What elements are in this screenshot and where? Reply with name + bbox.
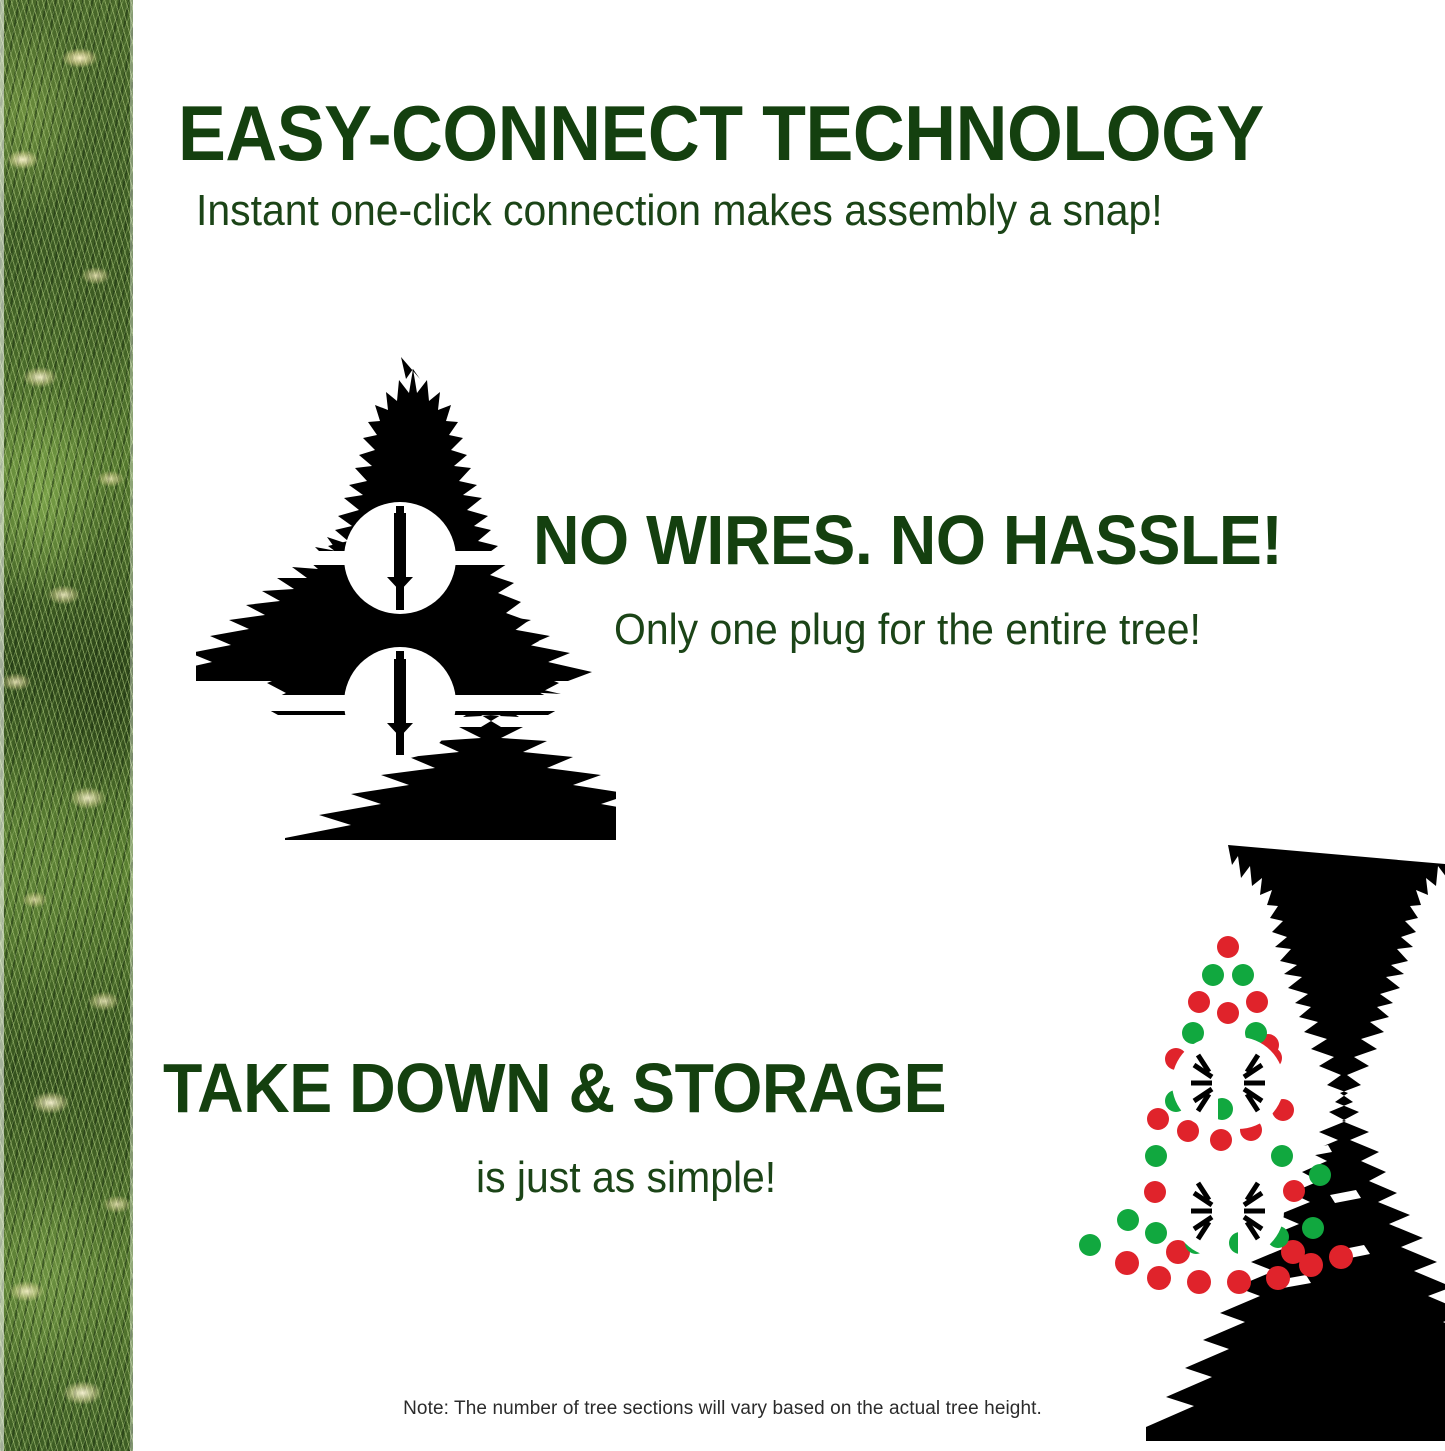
subline-easy-connect-technology: Instant one-click connection makes assem… xyxy=(196,186,1163,236)
storage-tree-illustration xyxy=(1028,845,1428,1360)
pine-branches-image xyxy=(0,0,133,1451)
connector-circle-top xyxy=(348,506,452,610)
decorated-tree-body xyxy=(1079,845,1445,1441)
connector-circle-bottom xyxy=(348,651,452,755)
garland-photo-strip xyxy=(0,0,133,1451)
headline-take-down-and-storage: TAKE DOWN & STORAGE xyxy=(163,1048,946,1128)
subline-no-wires-no-hassle: Only one plug for the entire tree! xyxy=(614,605,1201,655)
garland-right-edge xyxy=(130,0,133,1451)
infographic-page: EASY-CONNECT TECHNOLOGY Instant one-clic… xyxy=(0,0,1445,1451)
disconnect-circle-bottom xyxy=(1172,1165,1284,1257)
headline-easy-connect-technology: EASY-CONNECT TECHNOLOGY xyxy=(178,88,1264,179)
assembly-tree-illustration xyxy=(196,355,616,840)
subline-take-down-and-storage: is just as simple! xyxy=(476,1153,776,1203)
headline-no-wires-no-hassle: NO WIRES. NO HASSLE! xyxy=(533,500,1282,580)
garland-left-edge xyxy=(0,0,4,1451)
footer-note: Note: The number of tree sections will v… xyxy=(0,1398,1445,1420)
